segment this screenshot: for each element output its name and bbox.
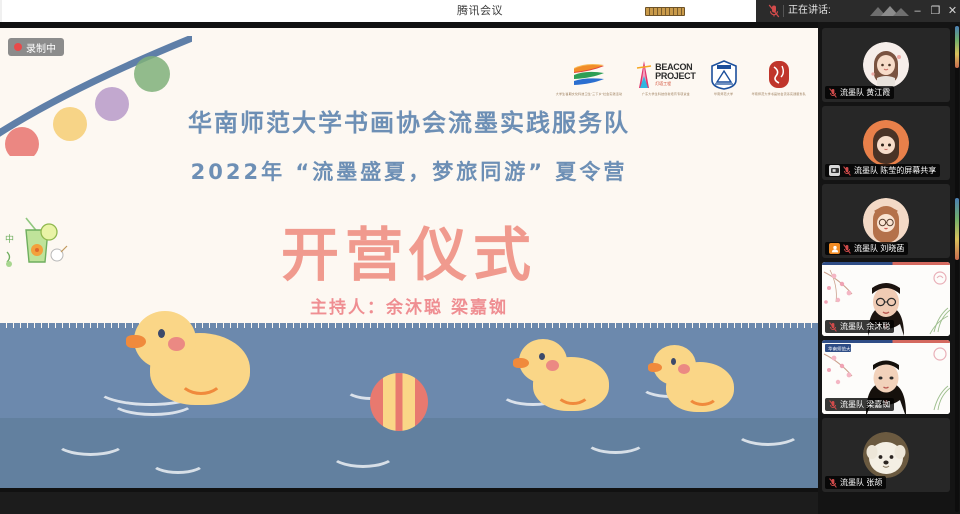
microphone-muted-icon bbox=[843, 244, 851, 254]
participant-name-chip: 流墨队 刘晓菡 bbox=[825, 242, 908, 255]
cartoon-girl-avatar-icon bbox=[863, 120, 909, 166]
microphone-muted-icon bbox=[829, 478, 837, 488]
microphone-muted-icon bbox=[829, 400, 837, 410]
beacon-subtitle: 灯塔工程 bbox=[655, 81, 695, 87]
participant-name-chip: 流墨队 张颉 bbox=[825, 476, 886, 489]
screen-share-badge-icon bbox=[829, 165, 840, 176]
ripple bbox=[585, 428, 646, 454]
avatar bbox=[863, 198, 909, 244]
participant-name: 流墨队 刘晓菡 bbox=[854, 243, 904, 254]
tencent-meeting-logo-icon bbox=[868, 4, 912, 18]
beacon-project-logo: BEACON PROJECT 灯塔工程 广东大学生科技创新培育专项资金 bbox=[636, 60, 695, 96]
title-bar-right: 正在讲话: – ❐ ✕ bbox=[756, 0, 960, 22]
avatar bbox=[863, 42, 909, 88]
window-controls: – ❐ ✕ bbox=[916, 0, 960, 22]
recording-dot-icon bbox=[14, 43, 22, 51]
microphone-muted-icon bbox=[843, 166, 851, 176]
participant-name: 流墨队 张颉 bbox=[840, 477, 882, 488]
participant-name: 流墨队 余沐聪 bbox=[840, 321, 890, 332]
participant-name: 流墨队 陈莹的屏幕共享 bbox=[854, 165, 936, 176]
participant-panel[interactable]: 流墨队 黄江霞 bbox=[818, 22, 960, 514]
duck-illustration bbox=[128, 303, 253, 413]
slide-main-title: 开营仪式 bbox=[0, 208, 818, 292]
microphone-muted-icon bbox=[829, 322, 837, 332]
ripple bbox=[330, 440, 396, 468]
slide-theme-line: 2022年 “流墨盛夏，梦旅同游” 夏令营 bbox=[0, 156, 818, 186]
participant-name: 流墨队 梁嘉铷 bbox=[840, 399, 890, 410]
host-badge-icon bbox=[829, 243, 840, 254]
beacon-caption: 广东大学生科技创新培育专项资金 bbox=[642, 92, 690, 96]
scnu-crest-logo: 华南师范大学 bbox=[710, 60, 738, 96]
dog-avatar-icon bbox=[863, 432, 909, 478]
slide-host-line: 主持人：余沐聪 梁嘉铷 bbox=[0, 293, 818, 318]
participant-tile[interactable]: 华南师范大学 bbox=[822, 340, 950, 414]
participant-name-chip: 流墨队 余沐聪 bbox=[825, 320, 894, 333]
beacon-title-line2: PROJECT bbox=[655, 72, 695, 81]
cartoon-girl-glasses-avatar-icon bbox=[863, 198, 909, 244]
beach-ball-illustration bbox=[370, 373, 428, 431]
beacon-tower-icon bbox=[636, 60, 652, 90]
seal-icon bbox=[767, 60, 791, 90]
avatar bbox=[863, 432, 909, 478]
svg-text:华南师范大学: 华南师范大学 bbox=[828, 346, 855, 353]
maximize-button[interactable]: ❐ bbox=[928, 0, 943, 22]
titlebar-divider bbox=[783, 5, 784, 17]
ribbon-icon bbox=[572, 62, 606, 90]
ripple bbox=[55, 428, 126, 456]
microphone-muted-icon bbox=[829, 88, 837, 98]
presentation-slide: 中 大学生暑期文化科技卫生“三下乡”社会实践活动 bbox=[0, 28, 818, 488]
meeting-window: 腾讯会议 正在讲话: – ❐ ✕ bbox=[0, 0, 960, 514]
network-signal-indicator bbox=[645, 7, 685, 16]
recording-indicator[interactable]: 录制中 bbox=[8, 38, 64, 56]
participant-tile[interactable]: 流墨队 余沐聪 bbox=[822, 262, 950, 336]
participant-tile[interactable]: 流墨队 张颉 bbox=[822, 418, 950, 492]
panel-scrollbar-thumb[interactable] bbox=[955, 198, 959, 260]
participant-name-chip: 流墨队 黄江霞 bbox=[825, 86, 894, 99]
participant-tile[interactable]: 流墨队 陈莹的屏幕共享 bbox=[822, 106, 950, 180]
participant-name-chip: 流墨队 梁嘉铷 bbox=[825, 398, 894, 411]
participant-name-chip: 流墨队 陈莹的屏幕共享 bbox=[825, 164, 940, 177]
participant-tile[interactable]: 流墨队 黄江霞 bbox=[822, 28, 950, 102]
university-crest-icon bbox=[710, 60, 738, 90]
calligraphy-seal-logo: 华南师范大学书画协会流墨实践服务队 bbox=[752, 60, 806, 96]
participant-name: 流墨队 黄江霞 bbox=[840, 87, 890, 98]
logo-strip: 大学生暑期文化科技卫生“三下乡”社会实践活动 BEACON PROJECT bbox=[556, 46, 806, 96]
duck-illustration bbox=[650, 340, 735, 415]
minimize-button[interactable]: – bbox=[910, 0, 925, 22]
recording-label: 录制中 bbox=[26, 40, 56, 55]
duck-illustration bbox=[515, 333, 610, 415]
shared-screen-stage[interactable]: 中 大学生暑期文化科技卫生“三下乡”社会实践活动 bbox=[0, 22, 818, 492]
avatar bbox=[863, 120, 909, 166]
microphone-muted-icon bbox=[768, 4, 780, 18]
speaking-status-label: 正在讲话: bbox=[788, 0, 831, 22]
ripple bbox=[150, 450, 206, 474]
scnu-caption: 华南师范大学 bbox=[714, 92, 733, 96]
panel-scrollbar-thumb[interactable] bbox=[955, 26, 959, 68]
panel-scrollbar-track[interactable] bbox=[955, 24, 959, 512]
slide-organization-line: 华南师范大学书画协会流墨实践服务队 bbox=[0, 103, 818, 138]
close-button[interactable]: ✕ bbox=[945, 0, 960, 22]
seal-caption: 华南师范大学书画协会流墨实践服务队 bbox=[752, 92, 806, 96]
volunteer-ribbon-caption: 大学生暑期文化科技卫生“三下乡”社会实践活动 bbox=[556, 92, 622, 96]
ripple bbox=[735, 418, 801, 446]
volunteer-ribbon-logo: 大学生暑期文化科技卫生“三下乡”社会实践活动 bbox=[556, 62, 622, 96]
title-bar: 腾讯会议 正在讲话: – ❐ ✕ bbox=[0, 0, 960, 22]
participant-tile[interactable]: 流墨队 刘晓菡 bbox=[822, 184, 950, 258]
cartoon-girl-avatar-icon bbox=[863, 42, 909, 88]
